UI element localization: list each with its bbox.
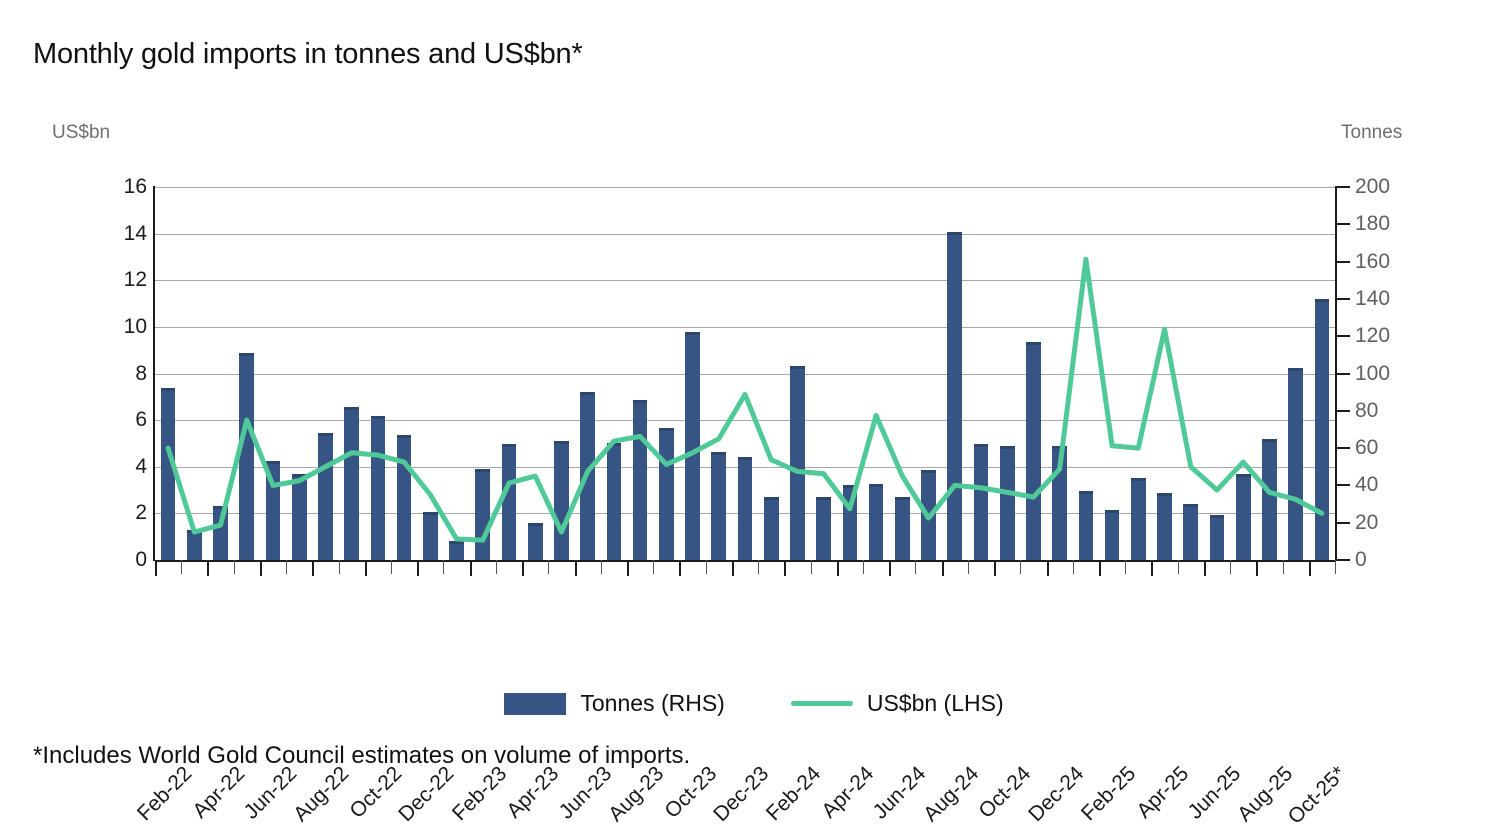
left-axis-tick-label: 16: [124, 175, 147, 199]
left-axis-tick-label: 12: [124, 268, 147, 292]
right-axis-tickmark: [1337, 559, 1350, 561]
left-axis-tick-label: 4: [135, 455, 147, 479]
x-axis-tickmark: [1335, 560, 1336, 574]
x-axis-tickmark: [522, 560, 524, 576]
bar-swatch-icon: [504, 693, 566, 715]
x-axis-tickmark: [1047, 560, 1049, 576]
x-axis-tickmark: [1204, 560, 1206, 576]
x-axis-tick-label: Apr-23: [503, 762, 565, 824]
x-axis-tickmark: [234, 560, 235, 574]
right-axis-tickmark: [1337, 261, 1350, 263]
x-axis-tickmark: [1020, 560, 1021, 574]
left-axis-caption: US$bn: [52, 122, 110, 144]
legend-label-usdbn: US$bn (LHS): [867, 690, 1004, 717]
x-axis-tickmark: [627, 560, 629, 576]
right-axis-tick-label: 60: [1355, 436, 1378, 460]
right-axis-tickmark: [1337, 410, 1350, 412]
line-path-svg: [155, 187, 1335, 560]
x-axis-tickmark: [706, 560, 707, 574]
x-axis-tick-label: Oct-25*: [1284, 762, 1351, 829]
x-axis-tickmark: [1256, 560, 1258, 576]
legend: Tonnes (RHS) US$bn (LHS): [0, 690, 1508, 717]
x-axis-tickmark: [260, 560, 262, 576]
x-axis-tickmark: [1309, 560, 1311, 576]
plot-area: 0246810121416 02040608010012014016018020…: [155, 187, 1335, 560]
x-axis-tick-label: Oct-23: [660, 762, 722, 824]
x-axis-tickmark: [915, 560, 916, 574]
legend-item-tonnes[interactable]: Tonnes (RHS): [504, 690, 724, 717]
line-swatch-icon: [791, 701, 853, 706]
x-axis-tick-label: Jun-25: [1184, 762, 1246, 824]
x-axis-tickmark: [863, 560, 864, 574]
x-axis-tickmark: [653, 560, 654, 574]
x-axis-tickmark: [548, 560, 549, 574]
legend-item-usdbn[interactable]: US$bn (LHS): [791, 690, 1004, 717]
right-axis-tickmark: [1337, 447, 1350, 449]
x-axis-tickmark: [1125, 560, 1126, 574]
right-axis-tickmark: [1337, 335, 1350, 337]
x-axis-tick-label: Jun-23: [554, 762, 616, 824]
x-axis-tickmark: [942, 560, 944, 576]
x-axis-tickmark: [1178, 560, 1179, 574]
right-axis-tick-label: 20: [1355, 511, 1378, 535]
x-axis-tick-label: Oct-24: [975, 762, 1037, 824]
right-axis-tick-label: 200: [1355, 175, 1390, 199]
x-axis-tick-label: Aug-24: [919, 762, 984, 827]
right-axis-tick-label: 0: [1355, 548, 1367, 572]
page-title: Monthly gold imports in tonnes and US$bn…: [33, 38, 583, 71]
x-axis-tickmark: [1073, 560, 1074, 574]
x-axis-tickmark: [1099, 560, 1101, 576]
x-axis-tickmark: [1151, 560, 1153, 576]
x-axis-tick-label: Apr-22: [188, 762, 250, 824]
x-axis-tickmark: [391, 560, 392, 574]
x-axis-tickmark: [312, 560, 314, 576]
right-axis-tick-label: 160: [1355, 250, 1390, 274]
chart-container: Monthly gold imports in tonnes and US$bn…: [0, 0, 1508, 792]
x-axis-tick-label: Aug-23: [604, 762, 669, 827]
x-axis-tickmark: [679, 560, 681, 576]
line-path[interactable]: [168, 259, 1322, 540]
left-axis-tick-label: 2: [135, 501, 147, 525]
legend-label-tonnes: Tonnes (RHS): [580, 690, 724, 717]
x-axis-tickmark: [1230, 560, 1231, 574]
footnote: *Includes World Gold Council estimates o…: [33, 742, 690, 770]
right-axis-tick-label: 180: [1355, 212, 1390, 236]
left-axis-tick-label: 8: [135, 362, 147, 386]
x-axis-tickmark: [1283, 560, 1284, 574]
x-axis-tick-label: Dec-23: [709, 762, 774, 827]
x-axis-tickmark: [601, 560, 602, 574]
x-axis-tickmark: [732, 560, 734, 576]
left-axis-tick-label: 6: [135, 408, 147, 432]
x-axis-tickmark: [417, 560, 419, 576]
right-axis-tickmark: [1337, 373, 1350, 375]
x-axis-tickmark: [365, 560, 367, 576]
x-axis-tick-label: Dec-22: [394, 762, 459, 827]
x-axis-tickmark: [968, 560, 969, 574]
x-axis-tickmark: [470, 560, 472, 576]
x-axis-tickmark: [339, 560, 340, 574]
left-axis-tick-label: 10: [124, 315, 147, 339]
right-axis-tick-label: 40: [1355, 473, 1378, 497]
x-axis-tickmark: [155, 560, 157, 576]
x-axis-tick-label: Aug-22: [290, 762, 355, 827]
x-axis-tickmark: [443, 560, 444, 574]
x-axis-tickmark: [837, 560, 839, 576]
x-axis-tick-label: Jun-22: [240, 762, 302, 824]
x-axis-tickmark: [181, 560, 182, 574]
x-axis-tickmark: [784, 560, 786, 576]
right-axis-tickmark: [1337, 186, 1350, 188]
left-axis-tick-label: 0: [135, 548, 147, 572]
gridline: [155, 560, 1335, 562]
right-axis-tick-label: 120: [1355, 324, 1390, 348]
x-axis-tickmark: [286, 560, 287, 574]
x-axis-tickmark: [994, 560, 996, 576]
x-axis-tick-label: Feb-25: [1077, 762, 1141, 826]
right-axis-tick-label: 100: [1355, 362, 1390, 386]
x-axis-tick-label: Apr-25: [1132, 762, 1194, 824]
x-axis-tickmark: [496, 560, 497, 574]
right-axis-tickmark: [1337, 522, 1350, 524]
x-axis-tick-label: Apr-24: [817, 762, 879, 824]
right-axis-caption: Tonnes: [1341, 122, 1402, 144]
right-axis-tick-label: 80: [1355, 399, 1378, 423]
line-series-usdbn: [155, 187, 1335, 560]
x-axis-tick-label: Feb-24: [762, 762, 826, 826]
x-axis-tickmark: [758, 560, 759, 574]
x-axis-tickmark: [207, 560, 209, 576]
x-axis-tick-label: Feb-22: [133, 762, 197, 826]
x-axis-tick-label: Dec-24: [1024, 762, 1089, 827]
x-axis-tickmark: [889, 560, 891, 576]
right-axis-tickmark: [1337, 298, 1350, 300]
x-axis-tickmark: [811, 560, 812, 574]
right-axis-tickmark: [1337, 484, 1350, 486]
right-axis-tick-label: 140: [1355, 287, 1390, 311]
right-axis-tickmark: [1337, 223, 1350, 225]
x-axis-tick-label: Feb-23: [448, 762, 512, 826]
x-axis-tick-label: Jun-24: [869, 762, 931, 824]
x-axis-tickmark: [575, 560, 577, 576]
left-axis-tick-label: 14: [124, 222, 147, 246]
